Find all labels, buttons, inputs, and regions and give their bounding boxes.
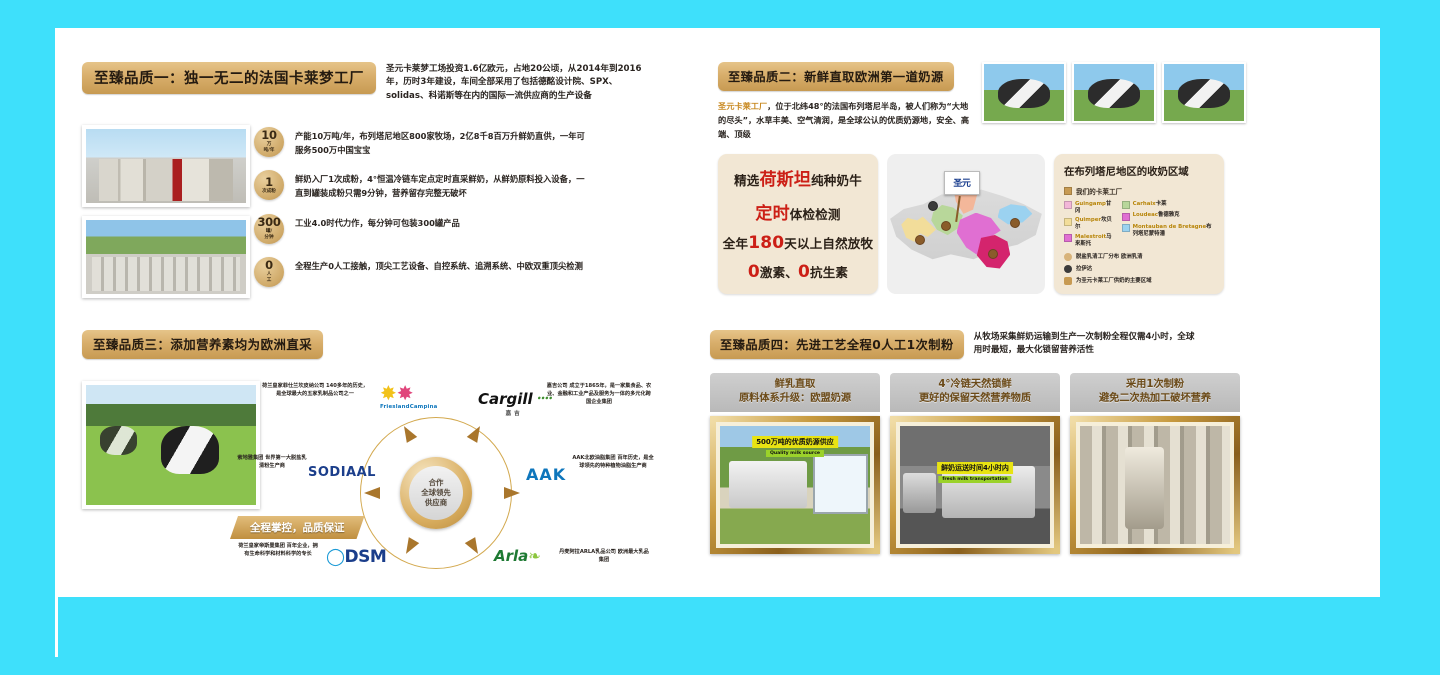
list-item: 0 人 工 全程生产0人工接触，顶尖工艺设备、自控系统、追溯系统、中欧双重顶尖检…	[254, 257, 642, 287]
milk-tanker-pasture-photo: 500万吨的优质奶源供应 Quality milk source	[720, 426, 870, 544]
cargill-logo-sub: 嘉吉	[478, 409, 550, 417]
legend-fr: Carhaix	[1133, 201, 1156, 207]
processing-tank-shape	[1125, 447, 1164, 530]
section-quality-two: 至臻品质二：新鲜直取欧洲第一道奶源 圣元卡莱工厂，位于北纬48°的法国布列塔尼半…	[718, 62, 1258, 337]
dsm-logo: ◯DSM	[326, 547, 386, 567]
arla-logo: Arla❧	[494, 547, 541, 565]
photo-overlay-cn: 鲜奶运送时间4小时内	[937, 462, 1013, 474]
partner-text-aak: AAK北欧油脂集团 百年历史，是全球领先的特种植物油脂生产商	[570, 455, 656, 471]
claim-highlight: 荷斯坦	[759, 170, 811, 190]
partner-text-cargill: 嘉吉公司 成立于1865年，是一家集食品、农业、金融和工业产品及服务为一体的多元…	[546, 383, 652, 406]
supplier-diagram: 合作 全球领先 供应商 荷兰皇家菲仕兰坎皮纳公司 140多年的历史，是全球最大的…	[274, 381, 654, 581]
section-quality-one: 至臻品质一：独一无二的法国卡莱梦工厂 圣元卡莱梦工场投资1.6亿欧元，占地20公…	[82, 62, 642, 337]
arrow-icon-left	[364, 487, 380, 499]
legend-title: 在布列塔尼地区的收奶区域	[1064, 163, 1215, 178]
legend-column-right: Carhaix卡莱 Loudeac鲁德雅克 Montauban de Breta…	[1122, 201, 1215, 248]
star-icon: ✸	[397, 381, 414, 405]
section1-ribbon-title: 至臻品质一：独一无二的法国卡莱梦工厂	[82, 62, 376, 94]
hub-line-3: 供应商	[425, 498, 447, 508]
cargill-logo-text: Cargill᠁	[478, 383, 550, 409]
claim-zero-2: 0	[798, 262, 810, 282]
card-title-line1: 鲜乳直取	[714, 378, 876, 392]
claim-antibiotic-label: 抗生素	[810, 265, 848, 280]
section2-cow-photo-row	[982, 62, 1246, 123]
arrow-icon-right	[504, 487, 520, 499]
section4-cards: 鲜乳直取 原料体系升级：欧盟奶源 500万吨的优质奶源供应 Quality mi…	[710, 373, 1310, 554]
photo-overlay-en: fresh milk transportation	[938, 476, 1011, 483]
section2-header: 至臻品质二：新鲜直取欧洲第一道奶源 圣元卡莱工厂，位于北纬48°的法国布列塔尼半…	[718, 62, 1258, 142]
legend-footnotes: 脱盐乳清工厂分布 欧洲乳清 拉伊达 为圣元卡莱工厂供奶的主要区域	[1064, 253, 1215, 285]
stat-disc: 0 人 工	[254, 257, 284, 287]
arla-leaf-icon: ❧	[528, 547, 541, 565]
pasture-cows-photo	[82, 381, 260, 509]
claim-suffix: 天以上自然放牧	[784, 236, 873, 251]
cargill-logo: Cargill᠁ 嘉吉	[478, 383, 550, 417]
legend-fr: Montauban de Bretagne	[1133, 224, 1207, 230]
partner-text-arla: 丹麦阿拉ARLA乳品公司 欧洲最大乳品集团	[558, 549, 650, 565]
dsm-logo-text: DSM	[345, 547, 387, 567]
section1-photo-column	[82, 125, 242, 300]
brittany-milk-map: 圣元	[887, 154, 1045, 294]
section-quality-three: 至臻品质三：添加营养素均为欧洲直采 合作 全球领先 供应商	[82, 330, 702, 570]
cow-photo-3	[1162, 62, 1246, 123]
stat-unit-1: 万	[267, 143, 272, 148]
stat-disc: 1 次成粉	[254, 170, 284, 200]
claim-holstein: 精选荷斯坦纯种奶牛	[734, 165, 862, 190]
stat-unit-2: 工	[267, 279, 272, 284]
legend-subtitle: 我们的卡莱工厂	[1076, 186, 1122, 196]
friesland-logo: ✸✸ FrieslandCampina	[380, 383, 437, 410]
sodiaal-logo: SODIAAL	[308, 465, 376, 480]
card-title-line1: 4°冷链天然锁鲜	[894, 378, 1056, 392]
color-swatch-icon	[1064, 218, 1072, 226]
tanker-truck-shape	[729, 461, 807, 508]
cold-chain-trucks-photo: 鲜奶运送时间4小时内 fresh milk transportation	[900, 426, 1050, 544]
section-quality-four: 至臻品质四：先进工艺全程0人工1次制粉 从牧场采集鲜奶运输到生产一次制粉全程仅需…	[710, 330, 1310, 570]
list-item: Loudeac鲁德雅克	[1122, 212, 1215, 221]
dsm-ring-icon: ◯	[326, 547, 345, 567]
list-item: Montauban de Bretagne布列塔尼蒙特潘	[1122, 224, 1215, 238]
cow-photo-2	[1072, 62, 1156, 123]
list-item: 拉伊达	[1064, 265, 1215, 273]
section2-lede: 圣元卡莱工厂，位于北纬48°的法国布列塔尼半岛，被人们称为“大地的尽头”，水草丰…	[718, 100, 970, 142]
map-dot-plant-1	[941, 221, 951, 231]
laita-icon	[1064, 265, 1072, 273]
claim-highlight: 180	[748, 233, 784, 253]
process-card-2: 4°冷链天然锁鲜 更好的保留天然营养物质 鲜奶运送时间4小时内 fresh mi…	[890, 373, 1060, 554]
section2-ribbon-title: 至臻品质二：新鲜直取欧洲第一道奶源	[718, 62, 954, 91]
photo-overlay-en: Quality milk source	[766, 450, 824, 457]
friesland-logo-text: FrieslandCampina	[380, 404, 437, 410]
section2-header-left: 至臻品质二：新鲜直取欧洲第一道奶源 圣元卡莱工厂，位于北纬48°的法国布列塔尼半…	[718, 62, 970, 142]
stat-number: 10	[261, 130, 276, 142]
list-item: 1 次成粉 鲜奶入厂1次成粉，4°恒温冷链车定点定时直采鲜奶，从鲜奶原料投入设备…	[254, 170, 642, 200]
hub-line-2: 全球领先	[421, 488, 451, 498]
legend-fr: Loudeac	[1133, 212, 1158, 218]
stat-unit-1: 次成粉	[262, 190, 276, 195]
claim-zero-hormone: 0激素、0抗生素	[748, 262, 848, 282]
photo-overlay-cn: 500万吨的优质奶源供应	[752, 436, 838, 448]
stat-description: 全程生产0人工接触，顶尖工艺设备、自控系统、追溯系统、中欧双重顶尖检测	[295, 257, 587, 274]
map-legend-panel: 在布列塔尼地区的收奶区域 我们的卡莱工厂 Guingamp甘冈 Quimper坎…	[1054, 154, 1224, 294]
list-item: Malestroit马来斯托	[1064, 234, 1113, 248]
legend-column-left: Guingamp甘冈 Quimper坎贝尔 Malestroit马来斯托	[1064, 201, 1113, 248]
section1-lede: 圣元卡莱梦工场投资1.6亿欧元，占地20公顷，从2014年到2016年，历时3年…	[386, 62, 642, 103]
legend-fr: Guingamp	[1075, 201, 1106, 207]
section1-content: 10 万 吨/年 产能10万吨/年，布列塔尼地区800家牧场，2亿8千8百万升鲜…	[82, 125, 642, 300]
list-item: 10 万 吨/年 产能10万吨/年，布列塔尼地区800家牧场，2亿8千8百万升鲜…	[254, 127, 642, 157]
legend-cn: 鲁德雅克	[1158, 212, 1180, 218]
list-item: Quimper坎贝尔	[1064, 217, 1113, 231]
stat-number: 1	[265, 177, 273, 189]
color-swatch-icon	[1122, 224, 1130, 232]
list-item: 为圣元卡莱工厂供奶的主要区域	[1064, 277, 1215, 285]
stat-unit-1: 罐/	[266, 230, 272, 235]
map-factory-flag: 圣元	[944, 171, 980, 195]
card-title-line2: 更好的保留天然营养物质	[894, 392, 1056, 406]
card-title-line2: 避免二次热加工破坏营养	[1074, 392, 1236, 406]
legend-footnote: 为圣元卡莱工厂供奶的主要区域	[1076, 278, 1151, 285]
legend-columns: Guingamp甘冈 Quimper坎贝尔 Malestroit马来斯托	[1064, 201, 1215, 248]
stat-description: 鲜奶入厂1次成粉，4°恒温冷链车定点定时直采鲜奶，从鲜奶原料投入设备，一直到罐装…	[295, 170, 587, 200]
aak-logo: AAK	[526, 465, 566, 484]
partner-text-dsm: 荷兰皇家帝斯曼集团 百年企业，拥有生命科学和材料科学的专长	[238, 543, 318, 559]
section3-content: 合作 全球领先 供应商 荷兰皇家菲仕兰坎皮纳公司 140多年的历史，是全球最大的…	[82, 381, 702, 581]
stat-description: 工业4.0时代力作，每分钟可包装300罐产品	[295, 214, 587, 231]
stat-number: 0	[265, 260, 273, 272]
section3-ribbon-title: 至臻品质三：添加营养素均为欧洲直采	[82, 330, 323, 359]
section3-photo-wrap	[82, 381, 260, 581]
cow-photo-1	[982, 62, 1066, 123]
claim-highlight: 定时	[755, 204, 789, 224]
factory-swatch-icon	[1064, 187, 1072, 195]
milk-claims-panel: 精选荷斯坦纯种奶牛 定时体检检测 全年180天以上自然放牧 0激素、0抗生素	[718, 154, 878, 294]
list-item: 300 罐/ 分钟 工业4.0时代力作，每分钟可包装300罐产品	[254, 214, 642, 244]
card-title-line2: 原料体系升级：欧盟奶源	[714, 392, 876, 406]
factory-aerial-photo	[82, 216, 250, 298]
powder-plant-interior-photo	[1080, 426, 1230, 544]
color-swatch-icon	[1122, 213, 1130, 221]
diagram-hub: 合作 全球领先 供应商	[400, 457, 472, 529]
card-caption: 采用1次制粉 避免二次热加工破坏营养	[1070, 373, 1240, 412]
arla-logo-text: Arla	[494, 547, 528, 565]
list-item: 脱盐乳清工厂分布 欧洲乳清	[1064, 253, 1215, 261]
stat-unit-2: 吨/年	[264, 149, 275, 154]
list-item: Guingamp甘冈	[1064, 201, 1113, 215]
card-caption: 4°冷链天然锁鲜 更好的保留天然营养物质	[890, 373, 1060, 412]
quality-guarantee-badge: 全程掌控，品质保证	[230, 516, 365, 539]
photo-frame	[1070, 416, 1240, 554]
partner-text-friesland: 荷兰皇家菲仕兰坎皮纳公司 140多年的历史，是全球最大的五家乳制品公司之一	[262, 383, 368, 399]
section4-header: 至臻品质四：先进工艺全程0人工1次制粉 从牧场采集鲜奶运输到生产一次制粉全程仅需…	[710, 330, 1310, 359]
section4-ribbon-title: 至臻品质四：先进工艺全程0人工1次制粉	[710, 330, 964, 359]
color-swatch-icon	[1064, 201, 1072, 209]
cow-shape-1	[161, 426, 219, 474]
legend-fr: Malestroit	[1075, 234, 1106, 240]
claim-prefix: 精选	[734, 173, 759, 188]
hub-line-1: 合作	[429, 478, 444, 488]
map-flag-label: 圣元	[953, 176, 970, 189]
cow-shape-2	[100, 426, 137, 455]
claim-hormone-label: 激素、	[760, 265, 798, 280]
claim-suffix: 纯种奶牛	[811, 173, 862, 188]
card-caption: 鲜乳直取 原料体系升级：欧盟奶源	[710, 373, 880, 412]
truck-shape-left	[903, 473, 936, 513]
stat-disc: 10 万 吨/年	[254, 127, 284, 157]
stat-unit-1: 人	[267, 273, 272, 278]
partner-text-sodiaal: 索地雅集团 世界第一大脱盐乳清粉生产商	[236, 455, 308, 471]
factory-exterior-photo	[82, 125, 250, 207]
claim-checkup: 定时体检检测	[755, 199, 840, 224]
claim-zero-1: 0	[748, 262, 760, 282]
claim-suffix: 体检检测	[790, 207, 841, 222]
process-card-3: 采用1次制粉 避免二次热加工破坏营养	[1070, 373, 1240, 554]
supply-area-icon	[1064, 277, 1072, 285]
photo-frame: 500万吨的优质奶源供应 Quality milk source	[710, 416, 880, 554]
card-title-line1: 采用1次制粉	[1074, 378, 1236, 392]
process-card-1: 鲜乳直取 原料体系升级：欧盟奶源 500万吨的优质奶源供应 Quality mi…	[710, 373, 880, 554]
legend-footnote: 拉伊达	[1076, 266, 1092, 273]
claim-prefix: 全年	[723, 236, 748, 251]
photo-frame: 鲜奶运送时间4小时内 fresh milk transportation	[890, 416, 1060, 554]
section1-header: 至臻品质一：独一无二的法国卡莱梦工厂 圣元卡莱梦工场投资1.6亿欧元，占地20公…	[82, 62, 642, 103]
color-swatch-icon	[1122, 201, 1130, 209]
roadside-sign-shape	[813, 454, 868, 515]
color-swatch-icon	[1064, 234, 1072, 242]
stat-unit-2: 分钟	[264, 236, 273, 241]
poster-canvas: 至臻品质一：独一无二的法国卡莱梦工厂 圣元卡莱梦工场投资1.6亿欧元，占地20公…	[0, 0, 1440, 675]
stat-number: 300	[257, 217, 280, 229]
stat-disc: 300 罐/ 分钟	[254, 214, 284, 244]
section2-panels: 精选荷斯坦纯种奶牛 定时体检检测 全年180天以上自然放牧 0激素、0抗生素	[718, 154, 1258, 294]
section1-bullet-list: 10 万 吨/年 产能10万吨/年，布列塔尼地区800家牧场，2亿8千8百万升鲜…	[254, 125, 642, 300]
legend-fr: Quimper	[1075, 217, 1101, 223]
section2-lede-highlight: 圣元卡莱工厂	[718, 101, 767, 111]
claim-grazing: 全年180天以上自然放牧	[723, 233, 873, 253]
stat-description: 产能10万吨/年，布列塔尼地区800家牧场，2亿8千8百万升鲜奶直供，一年可服务…	[295, 127, 587, 157]
whey-plant-icon	[1064, 253, 1072, 261]
legend-cn: 卡莱	[1156, 201, 1167, 207]
star-icon: ✸	[380, 381, 397, 405]
legend-subtitle-row: 我们的卡莱工厂	[1064, 186, 1215, 196]
list-item: Carhaix卡莱	[1122, 201, 1215, 210]
diagram-hub-inner: 合作 全球领先 供应商	[409, 466, 463, 520]
section4-lede: 从牧场采集鲜奶运输到生产一次制粉全程仅需4小时，全球用时最短，最大化锁留营养活性	[974, 330, 1202, 358]
legend-footnote: 脱盐乳清工厂分布 欧洲乳清	[1076, 254, 1143, 261]
